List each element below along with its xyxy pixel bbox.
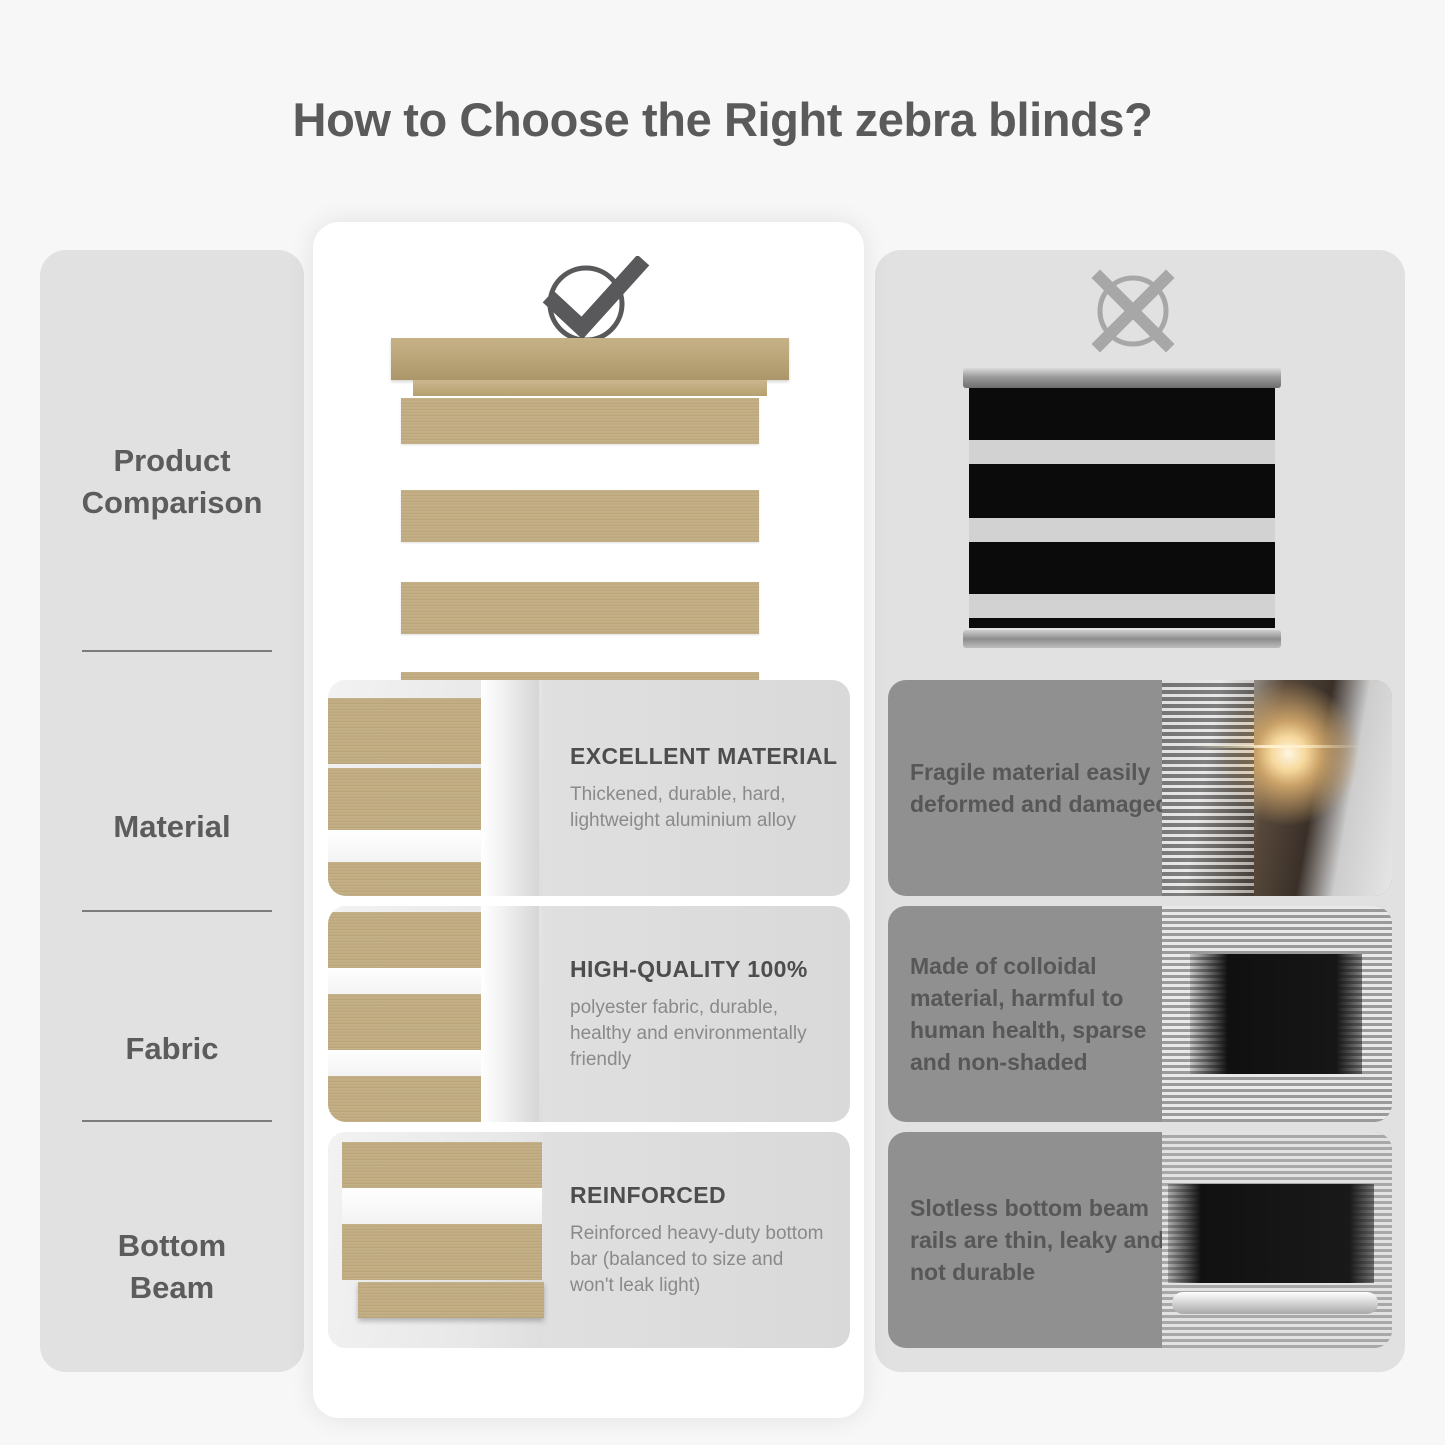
row-label-line-1: Product (40, 440, 304, 482)
dark-band (1168, 1184, 1374, 1283)
row-label-line-1: Material (40, 806, 304, 848)
bad-feature-card-fabric: Made of colloidal material, harmful to h… (888, 906, 1392, 1122)
window-frame (481, 680, 539, 896)
good-hero-product-image (381, 338, 799, 668)
feature-description: Reinforced heavy-duty bottom bar (balanc… (570, 1221, 832, 1299)
sun-ray (1192, 745, 1362, 748)
infographic-page: How to Choose the Right zebra blinds? Pr… (0, 0, 1445, 1445)
row-label-bottom-beam: Bottom Beam (40, 1225, 304, 1309)
bad-feature-text: Slotless bottom beam rails are thin, lea… (910, 1132, 1180, 1348)
feature-title: REINFORCED (570, 1182, 838, 1209)
bottom-rail (963, 630, 1281, 648)
headrail (391, 338, 789, 380)
bad-feature-text: Made of colloidal material, harmful to h… (910, 906, 1180, 1122)
feature-description: Thickened, durable, hard, lightweight al… (570, 782, 832, 834)
blind-band (401, 398, 759, 444)
reinforced-bottom-bar (358, 1282, 544, 1318)
bad-feature-photo-bottom-rail (1162, 1132, 1392, 1348)
blind-fabric (969, 388, 1275, 628)
check-mark-icon (534, 256, 654, 348)
feature-title: EXCELLENT MATERIAL (570, 743, 838, 770)
row-divider-3 (82, 1120, 272, 1122)
thin-blind-slats (1162, 680, 1254, 896)
slotless-bottom-rail (1172, 1292, 1378, 1314)
blind-band (401, 582, 759, 634)
row-label-product-comparison: Product Comparison (40, 440, 304, 524)
feature-text-material: EXCELLENT MATERIAL Thickened, durable, h… (570, 680, 838, 896)
feature-photo-fabric (328, 906, 543, 1122)
bad-feature-card-material: Fragile material easily deformed and dam… (888, 680, 1392, 896)
dark-band (1190, 954, 1362, 1075)
bad-hero-product-image (963, 368, 1281, 650)
row-label-line-1: Fabric (40, 1028, 304, 1070)
feature-text-fabric: HIGH-QUALITY 100% polyester fabric, dura… (570, 906, 838, 1122)
bad-feature-card-bottom-beam: Slotless bottom beam rails are thin, lea… (888, 1132, 1392, 1348)
row-label-panel: Product Comparison Material Fabric Botto… (40, 250, 304, 1372)
blind-band (342, 1142, 542, 1188)
blind-band (401, 490, 759, 542)
window-frame (481, 906, 539, 1122)
row-divider-2 (82, 910, 272, 912)
blind-sheer (342, 1188, 542, 1224)
row-label-material: Material (40, 806, 304, 848)
row-label-line-2: Beam (40, 1267, 304, 1309)
feature-title: HIGH-QUALITY 100% (570, 956, 838, 983)
feature-description: polyester fabric, durable, healthy and e… (570, 995, 832, 1073)
bad-feature-photo-fabric (1162, 906, 1392, 1122)
good-feature-card-material: EXCELLENT MATERIAL Thickened, durable, h… (328, 680, 850, 896)
good-feature-card-bottom-beam: REINFORCED Reinforced heavy-duty bottom … (328, 1132, 850, 1348)
row-label-line-2: Comparison (40, 482, 304, 524)
cross-mark-icon (1078, 266, 1188, 356)
feature-text-bottom-beam: REINFORCED Reinforced heavy-duty bottom … (570, 1132, 838, 1348)
feature-photo-material (328, 680, 543, 896)
bad-feature-text: Fragile material easily deformed and dam… (910, 680, 1180, 896)
row-label-line-1: Bottom (40, 1225, 304, 1267)
bad-feature-photo-glare (1162, 680, 1392, 896)
page-title: How to Choose the Right zebra blinds? (0, 92, 1445, 147)
blind-band (342, 1224, 542, 1280)
row-label-fabric: Fabric (40, 1028, 304, 1070)
good-feature-card-fabric: HIGH-QUALITY 100% polyester fabric, dura… (328, 906, 850, 1122)
headrail (963, 368, 1281, 388)
feature-photo-bottom-beam (328, 1132, 543, 1348)
row-divider-1 (82, 650, 272, 652)
